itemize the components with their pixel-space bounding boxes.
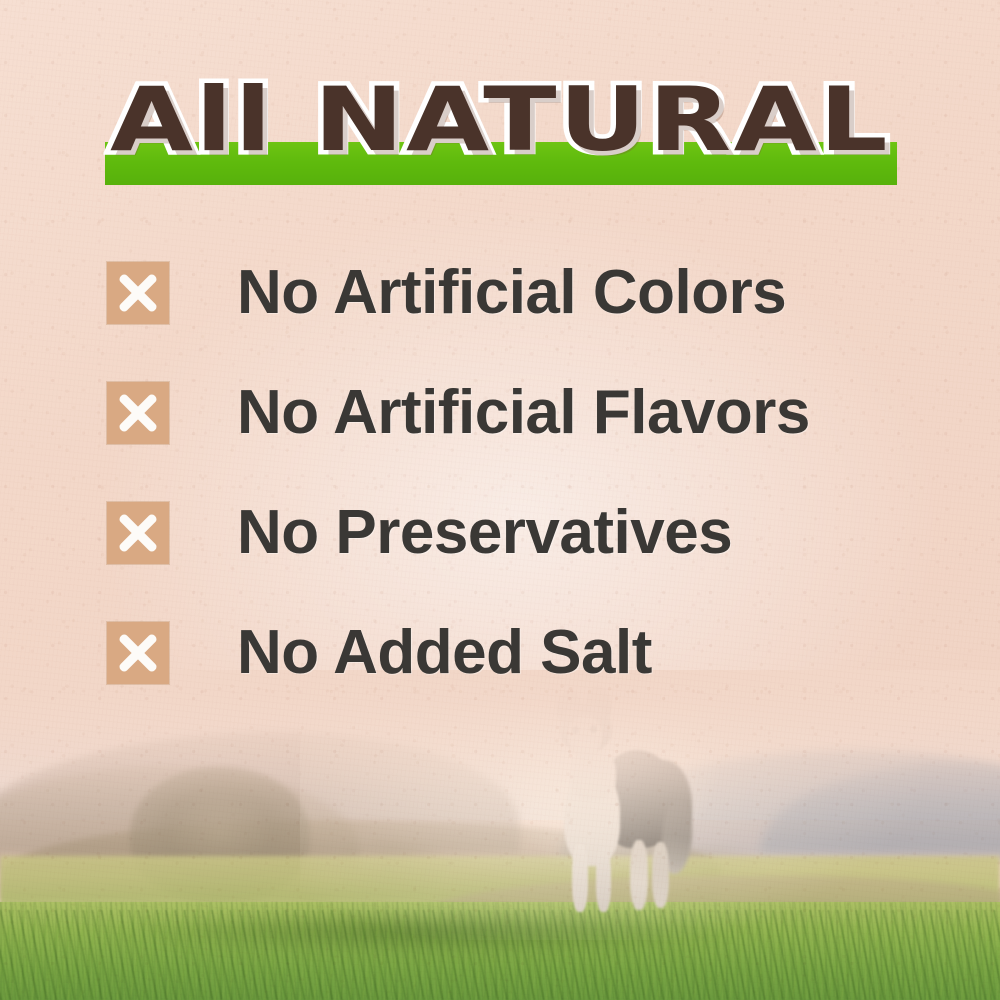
x-mark-icon (107, 262, 169, 324)
dog-front-leg-right (596, 848, 611, 912)
all-natural-product-claims-poster: All NATURAL No Artificial Colors No Arti… (0, 0, 1000, 1000)
claim-label: No Artificial Colors (237, 262, 786, 324)
claim-label: No Preservatives (237, 502, 732, 564)
dog-front-leg-left (572, 844, 588, 912)
x-mark-icon (107, 382, 169, 444)
claim-label: No Added Salt (237, 622, 652, 684)
x-mark-icon (107, 622, 169, 684)
list-item: No Added Salt (107, 622, 907, 684)
list-item: No Preservatives (107, 502, 907, 564)
grass-foreground-tufts (0, 910, 1000, 1000)
dog-hind-leg-left (630, 840, 648, 910)
list-item: No Artificial Colors (107, 262, 907, 324)
claims-list: No Artificial Colors No Artificial Flavo… (107, 262, 907, 742)
page-title: All NATURAL (0, 72, 1000, 168)
claim-label: No Artificial Flavors (237, 382, 810, 444)
x-mark-icon (107, 502, 169, 564)
dog-hind-leg-right (652, 842, 669, 908)
list-item: No Artificial Flavors (107, 382, 907, 444)
